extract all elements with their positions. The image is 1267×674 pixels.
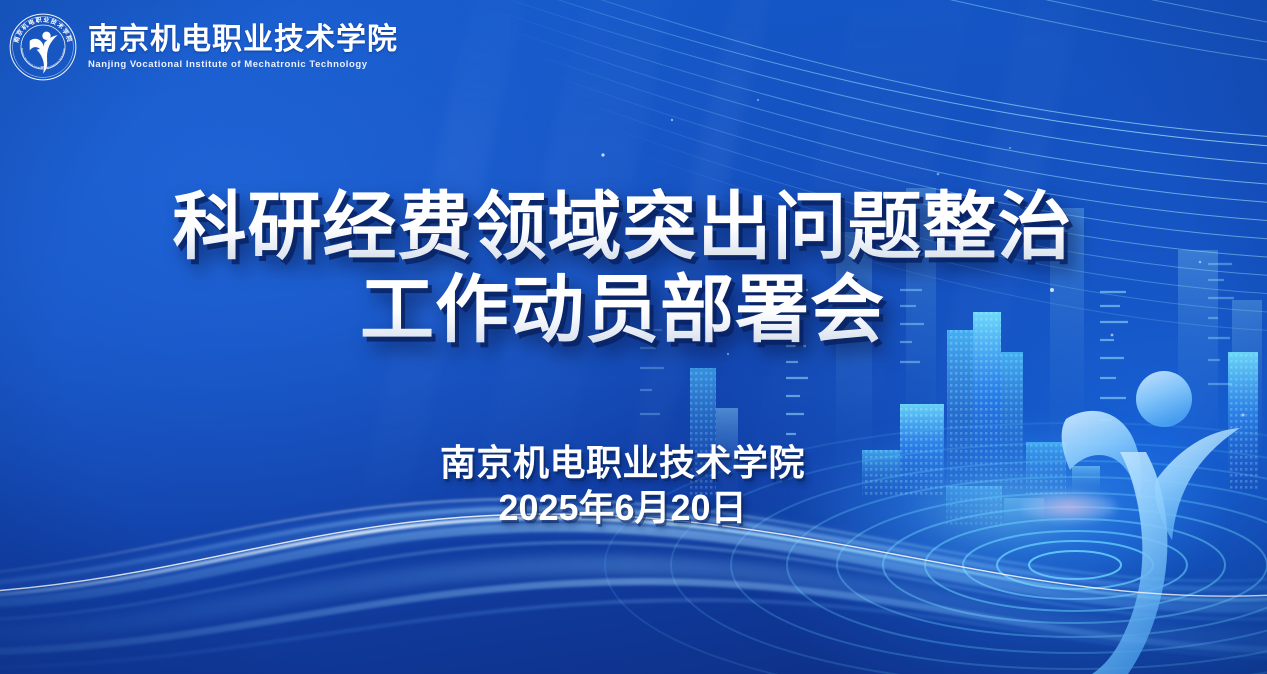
headline-line-1: 科研经费领域突出问题整治 <box>0 186 1245 269</box>
subtitle-block: 南京机电职业技术学院 2025年6月20日 <box>0 440 1267 530</box>
page-title: 科研经费领域突出问题整治 工作动员部署会 <box>0 186 1267 352</box>
university-seal-emblem: 南京机电职业技术学院 Nanjing Vocational Institute … <box>8 12 78 82</box>
event-backdrop-canvas: 南京机电职业技术学院 Nanjing Vocational Institute … <box>0 0 1267 674</box>
headline-line-2: 工作动员部署会 <box>0 269 1245 352</box>
subtitle-date: 2025年6月20日 <box>0 485 1245 530</box>
seal-year-text: 1958 <box>40 66 46 69</box>
brand-lockup: 南京机电职业技术学院 Nanjing Vocational Institute … <box>8 12 398 82</box>
arc-line-group-upper <box>700 0 1267 60</box>
brand-name-cn: 南京机电职业技术学院 <box>88 24 398 56</box>
brand-name-en: Nanjing Vocational Institute of Mechatro… <box>88 59 398 70</box>
subtitle-organization: 南京机电职业技术学院 <box>0 440 1245 485</box>
brand-text-block: 南京机电职业技术学院 Nanjing Vocational Institute … <box>88 24 398 70</box>
seal-ring-cn-text: 南京机电职业技术学院 <box>12 16 74 44</box>
